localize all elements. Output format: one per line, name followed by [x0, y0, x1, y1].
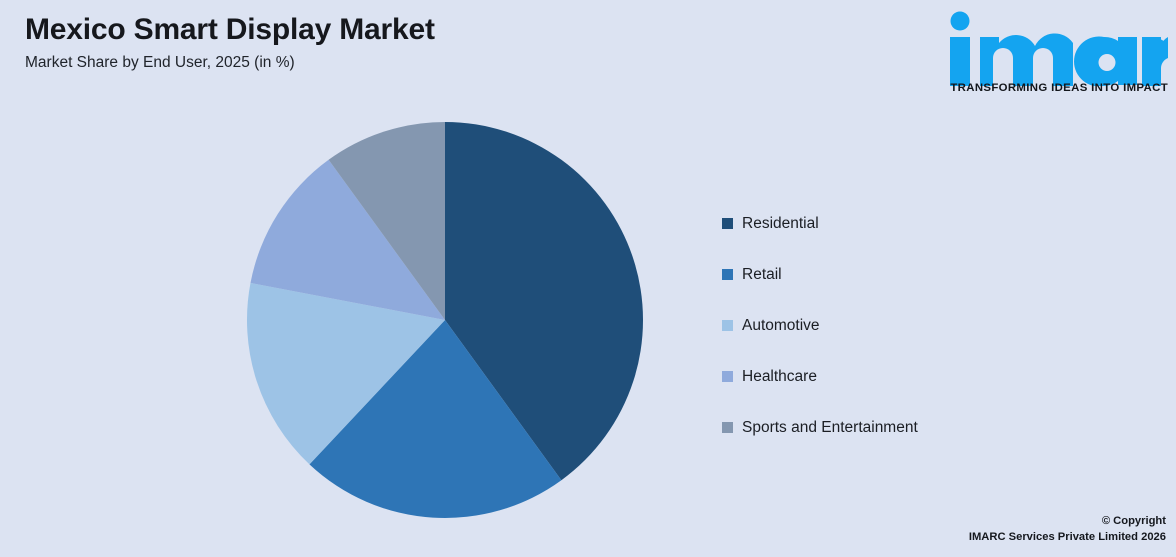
legend-label-residential: Residential — [742, 214, 819, 234]
legend-item-healthcare[interactable]: Healthcare — [722, 351, 1102, 402]
imarc-wordmark-icon — [932, 8, 1168, 86]
pie-chart — [246, 121, 644, 519]
legend-item-sports-and-entertainment[interactable]: Sports and Entertainment — [722, 402, 1102, 453]
legend-item-retail[interactable]: Retail — [722, 249, 1102, 300]
logo-tagline: TRANSFORMING IDEAS INTO IMPACT — [928, 82, 1168, 94]
legend-item-automotive[interactable]: Automotive — [722, 300, 1102, 351]
copyright-line-1: © Copyright — [969, 513, 1166, 529]
legend-label-sports-and-entertainment: Sports and Entertainment — [742, 418, 918, 438]
pie-chart-svg — [246, 121, 644, 519]
legend-swatch-icon — [722, 320, 733, 331]
legend-swatch-icon — [722, 218, 733, 229]
legend-label-retail: Retail — [742, 265, 782, 285]
chart-subtitle: Market Share by End User, 2025 (in %) — [25, 52, 825, 74]
legend-label-healthcare: Healthcare — [742, 367, 817, 387]
chart-legend: Residential Retail Automotive Healthcare… — [722, 198, 1102, 453]
page-title: Mexico Smart Display Market — [25, 10, 825, 50]
legend-item-residential[interactable]: Residential — [722, 198, 1102, 249]
legend-label-automotive: Automotive — [742, 316, 820, 336]
legend-swatch-icon — [722, 371, 733, 382]
pie-slice-group — [247, 122, 643, 518]
copyright-footer: © Copyright IMARC Services Private Limit… — [969, 513, 1166, 545]
copyright-line-2: IMARC Services Private Limited 2026 — [969, 529, 1166, 545]
chart-header: Mexico Smart Display Market Market Share… — [25, 10, 825, 74]
imarc-logo: TRANSFORMING IDEAS INTO IMPACT — [928, 8, 1168, 108]
legend-swatch-icon — [722, 269, 733, 280]
chart-canvas: Mexico Smart Display Market Market Share… — [0, 0, 1176, 557]
legend-swatch-icon — [722, 422, 733, 433]
